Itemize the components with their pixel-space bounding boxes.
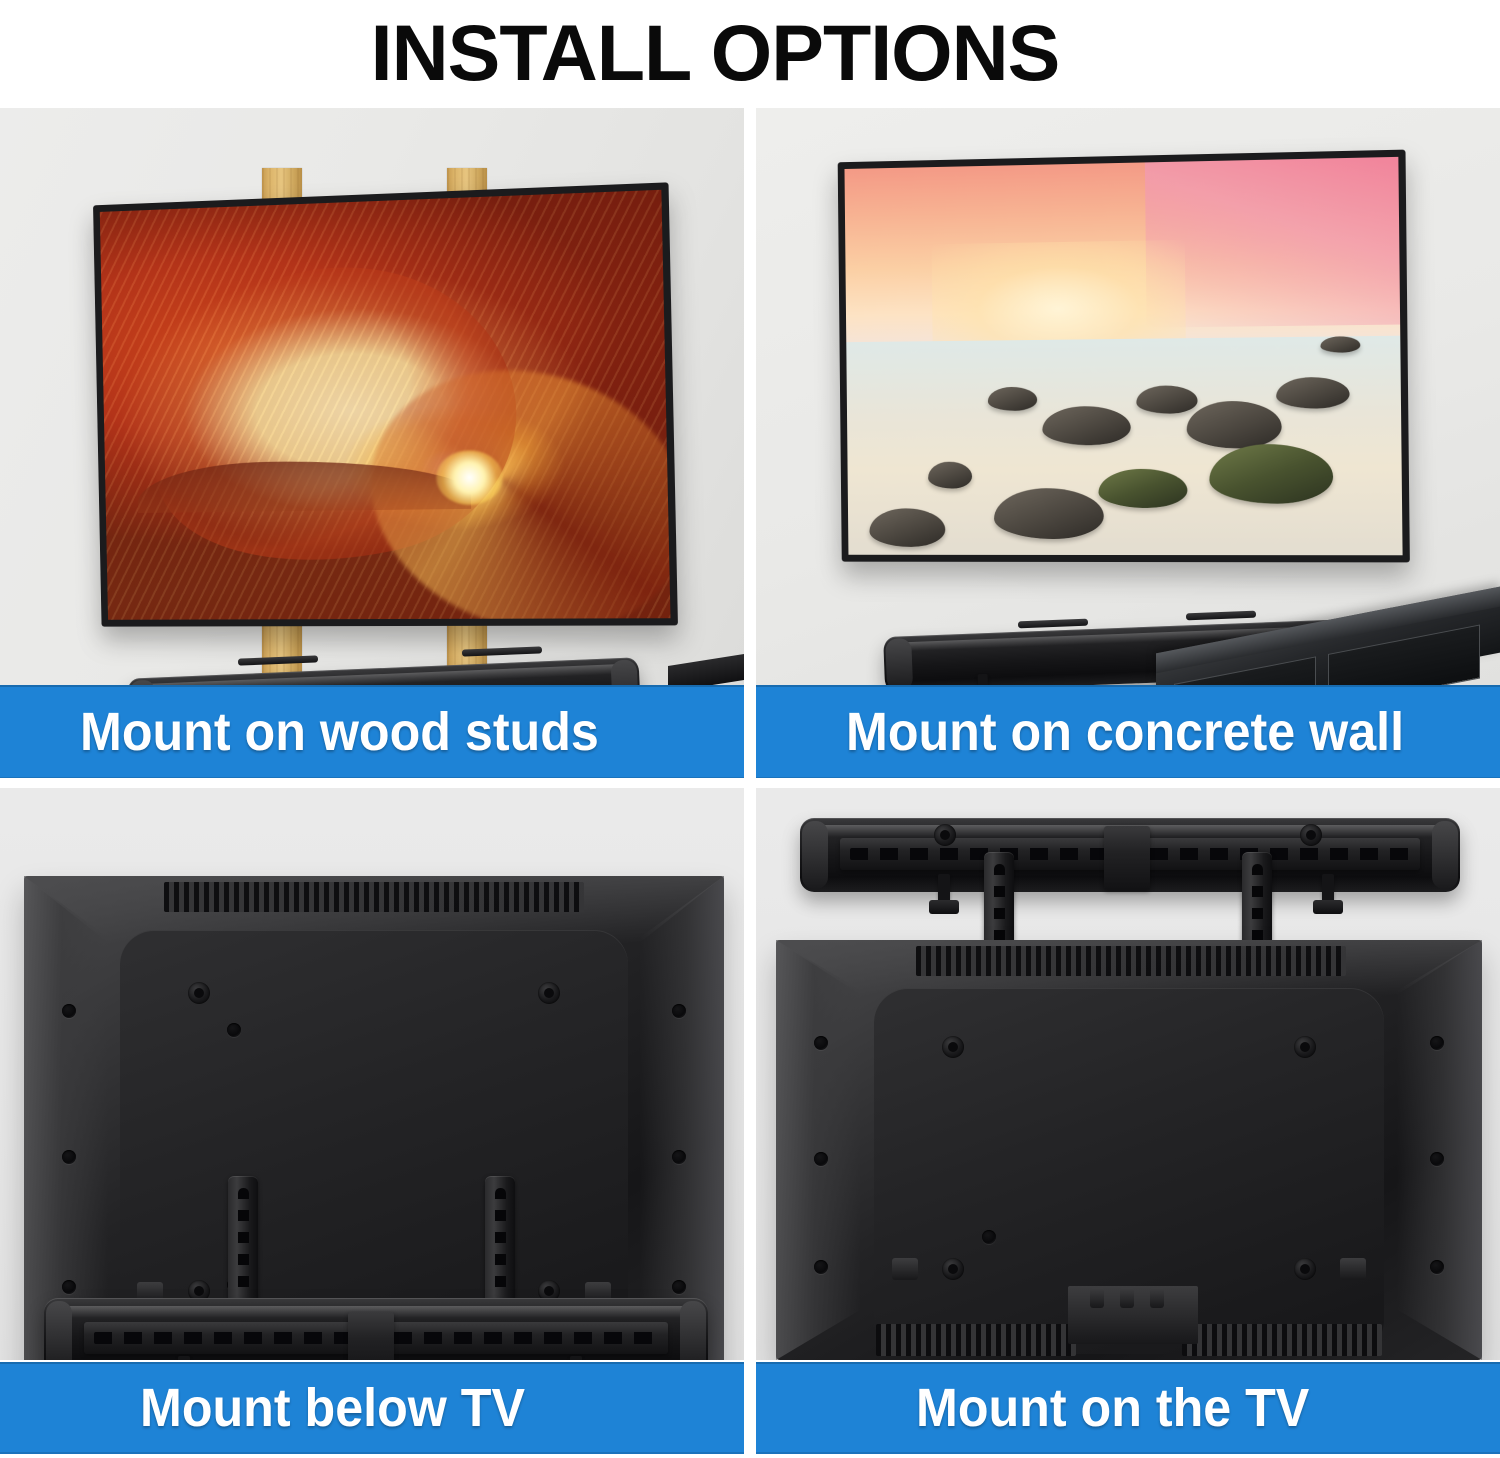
panel-mount-on-concrete-wall[interactable]: Mount on concrete wall bbox=[756, 108, 1500, 778]
tv-port-block bbox=[892, 1258, 918, 1280]
tv-screw-hole bbox=[672, 1150, 686, 1164]
panel-mount-on-wood-studs[interactable]: Mount on wood studs bbox=[0, 108, 744, 778]
page-title-bar: INSTALL OPTIONS bbox=[0, 0, 1500, 104]
tv-screw-hole bbox=[62, 1150, 76, 1164]
panel-mount-below-tv[interactable]: Mount below TV bbox=[0, 788, 744, 1458]
mount-clamp-left bbox=[178, 1356, 190, 1360]
tv-screw-hole bbox=[814, 1260, 828, 1274]
photo-mount-on-concrete-wall bbox=[756, 108, 1500, 686]
caption-label: Mount on wood studs bbox=[80, 703, 599, 761]
page-title: INSTALL OPTIONS bbox=[371, 13, 1060, 92]
vesa-hole bbox=[538, 982, 560, 1004]
tv-screw-hole bbox=[814, 1152, 828, 1166]
infographic-sheet: INSTALL OPTIONS bbox=[0, 0, 1500, 1454]
tv-screw-hole bbox=[1430, 1260, 1444, 1274]
tv-screw-hole bbox=[672, 1280, 686, 1294]
photo-mount-below-tv bbox=[0, 788, 744, 1360]
caption-bar-wood-studs: Mount on wood studs bbox=[0, 685, 744, 778]
install-options-grid: Mount on wood studs bbox=[0, 108, 1500, 1454]
television-rear bbox=[24, 876, 724, 1360]
tv-screw-hole bbox=[62, 1004, 76, 1018]
tv-port-block bbox=[1340, 1258, 1366, 1280]
tv-bottom-vents-right bbox=[1182, 1324, 1382, 1356]
tv-screw-hole bbox=[982, 1230, 996, 1244]
tv-top-vents bbox=[164, 882, 584, 912]
caption-bar-concrete-wall: Mount on concrete wall bbox=[756, 685, 1500, 778]
caption-label: Mount below TV bbox=[140, 1379, 525, 1437]
soundbar-vesa-hole bbox=[1300, 824, 1322, 846]
soundbar-vesa-hole bbox=[934, 824, 956, 846]
vesa-hole bbox=[188, 982, 210, 1004]
panel-mount-on-the-tv[interactable]: Mount on the TV bbox=[756, 788, 1500, 1458]
tv-screen bbox=[100, 190, 671, 620]
vesa-hole bbox=[942, 1258, 964, 1280]
tv-screen bbox=[844, 157, 1402, 555]
tv-screw-hole bbox=[227, 1023, 241, 1037]
tv-connector bbox=[1090, 1288, 1104, 1308]
vesa-hole bbox=[1294, 1036, 1316, 1058]
tv-screw-hole bbox=[1430, 1036, 1444, 1050]
tv-screw-hole bbox=[672, 1004, 686, 1018]
mount-clamp-right bbox=[570, 1356, 582, 1360]
tv-top-vents bbox=[916, 946, 1346, 976]
tv-connector bbox=[1150, 1288, 1164, 1308]
photo-mount-on-wood-studs bbox=[0, 108, 744, 686]
screen-image-coast bbox=[844, 157, 1402, 555]
mount-clamp-right bbox=[1322, 874, 1334, 902]
mount-clamp-left bbox=[938, 874, 950, 902]
tv-screw-hole bbox=[814, 1036, 828, 1050]
caption-label: Mount on concrete wall bbox=[846, 703, 1404, 761]
crossbar-center-bracket bbox=[1104, 826, 1150, 890]
screen-image-wave bbox=[100, 190, 671, 620]
caption-bar-below-tv: Mount below TV bbox=[0, 1362, 744, 1454]
caption-label: Mount on the TV bbox=[916, 1379, 1309, 1437]
tv-connector bbox=[1120, 1288, 1134, 1308]
tv-screw-hole bbox=[62, 1280, 76, 1294]
tv-screw-hole bbox=[1430, 1152, 1444, 1166]
crossbar-center-bracket bbox=[348, 1312, 394, 1360]
vesa-hole bbox=[1294, 1258, 1316, 1280]
photo-mount-on-the-tv bbox=[756, 788, 1500, 1360]
television-rear bbox=[776, 940, 1482, 1360]
television-front bbox=[93, 182, 678, 626]
television-front bbox=[838, 150, 1410, 563]
vesa-hole bbox=[942, 1036, 964, 1058]
tv-bottom-vents-left bbox=[876, 1324, 1076, 1356]
caption-bar-on-the-tv: Mount on the TV bbox=[756, 1362, 1500, 1454]
